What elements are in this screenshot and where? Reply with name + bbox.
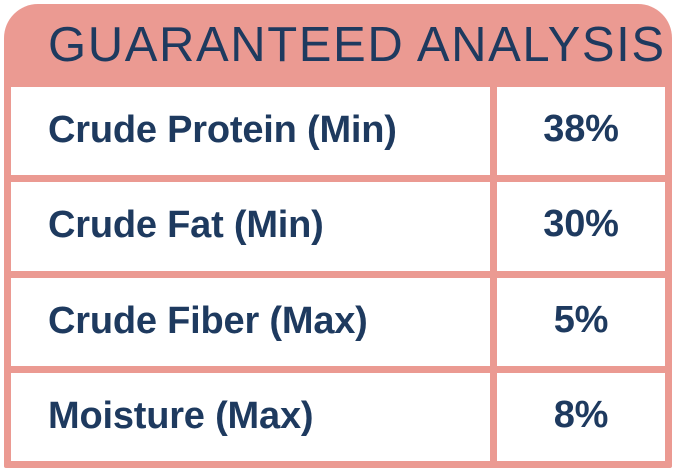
nutrient-label: Crude Fiber (Max) xyxy=(48,302,368,342)
nutrient-name-cell: Crude Protein (Min) xyxy=(11,87,490,175)
panel-header: GUARANTEED ANALYSIS xyxy=(4,4,672,87)
nutrient-label: Crude Protein (Min) xyxy=(48,111,397,151)
nutrient-amount-cell: 8% xyxy=(497,373,665,461)
nutrient-value: 5% xyxy=(554,301,609,341)
nutrient-name-cell: Crude Fat (Min) xyxy=(11,182,490,270)
analysis-panel: GUARANTEED ANALYSIS Crude Protein (Min) … xyxy=(4,4,672,468)
nutrient-label: Moisture (Max) xyxy=(48,397,313,437)
table-row: Crude Fiber (Max) 5% xyxy=(11,278,665,366)
nutrient-amount-cell: 38% xyxy=(497,87,665,175)
nutrient-amount-cell: 30% xyxy=(497,182,665,270)
guaranteed-analysis-label: GUARANTEED ANALYSIS Crude Protein (Min) … xyxy=(0,0,679,472)
nutrient-value: 38% xyxy=(543,110,618,150)
table-row: Crude Protein (Min) 38% xyxy=(11,87,665,175)
nutrient-name-cell: Crude Fiber (Max) xyxy=(11,278,490,366)
nutrient-label: Crude Fat (Min) xyxy=(48,206,324,246)
nutrient-value: 8% xyxy=(554,396,609,436)
nutrition-table: Crude Protein (Min) 38% Crude Fat (Min) … xyxy=(4,87,672,468)
nutrient-name-cell: Moisture (Max) xyxy=(11,373,490,461)
page-title: GUARANTEED ANALYSIS xyxy=(48,21,666,70)
table-row: Moisture (Max) 8% xyxy=(11,373,665,461)
table-row: Crude Fat (Min) 30% xyxy=(11,182,665,270)
nutrient-value: 30% xyxy=(543,205,618,245)
nutrient-amount-cell: 5% xyxy=(497,278,665,366)
